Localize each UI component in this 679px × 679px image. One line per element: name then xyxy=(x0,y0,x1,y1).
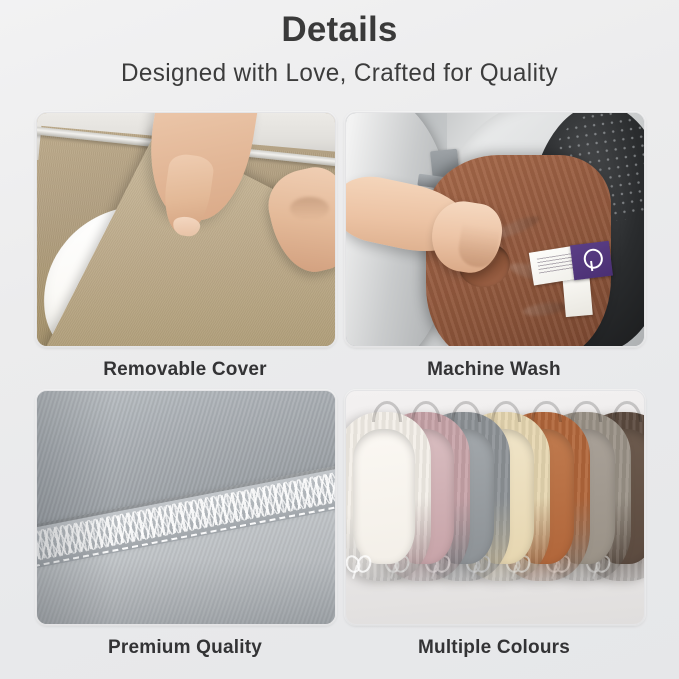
nest-handle xyxy=(411,401,441,423)
nest-inner-mattress xyxy=(353,429,415,564)
nest-bow xyxy=(346,552,370,579)
baby-nest-cream-white xyxy=(345,412,431,580)
feature-card-removable-cover: Removable Cover xyxy=(36,112,334,381)
fabric-fold xyxy=(522,300,568,318)
feature-caption-removable-cover: Removable Cover xyxy=(36,347,334,381)
shading-bottom xyxy=(37,559,335,624)
feature-caption-multiple-colours: Multiple Colours xyxy=(345,625,643,659)
feature-image-machine-wash xyxy=(345,112,645,347)
nest-handle xyxy=(451,401,481,423)
nest-handle xyxy=(612,401,642,423)
nest-handle xyxy=(571,401,601,423)
page-title: Details xyxy=(0,8,679,52)
nest-handle xyxy=(372,401,402,423)
feature-image-removable-cover xyxy=(36,112,336,347)
knuckle-shadow xyxy=(290,197,329,220)
feature-caption-premium-quality: Premium Quality xyxy=(36,625,334,659)
nest-handle xyxy=(531,401,561,423)
feature-card-multiple-colours: Multiple Colours xyxy=(345,390,643,659)
page-subtitle: Designed with Love, Crafted for Quality xyxy=(10,57,669,90)
feature-image-multiple-colours xyxy=(345,390,645,625)
nest-handle xyxy=(491,401,521,423)
feature-card-premium-quality: Premium Quality xyxy=(36,390,334,659)
feature-caption-machine-wash: Machine Wash xyxy=(345,347,643,381)
brand-badge-icon xyxy=(570,241,613,280)
feature-grid: Removable Cover xyxy=(36,112,643,659)
header: Details Designed with Love, Crafted for … xyxy=(0,0,679,89)
bow-tail xyxy=(352,565,358,579)
feature-image-premium-quality xyxy=(36,390,336,625)
product-details-infographic: Details Designed with Love, Crafted for … xyxy=(0,0,679,679)
feature-card-machine-wash: Machine Wash xyxy=(345,112,643,381)
colour-lineup xyxy=(346,400,644,600)
